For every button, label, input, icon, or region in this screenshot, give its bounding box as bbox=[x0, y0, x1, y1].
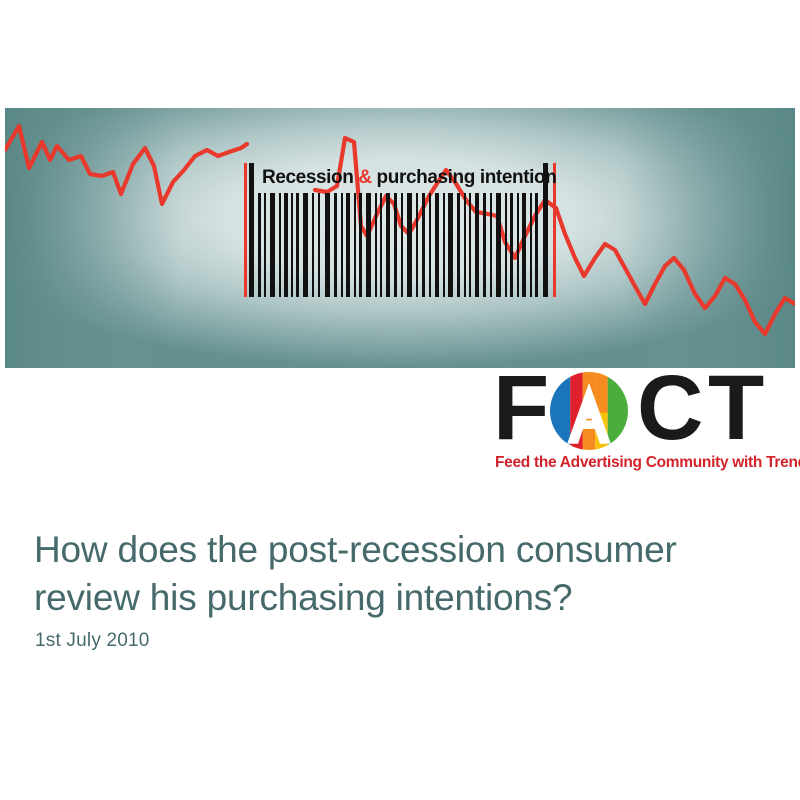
barcode-bar bbox=[457, 193, 460, 297]
barcode-bar bbox=[517, 193, 519, 297]
barcode-bar bbox=[270, 193, 275, 297]
barcode-bar bbox=[284, 193, 288, 297]
barcode-bar bbox=[375, 193, 377, 297]
barcode-bar bbox=[366, 193, 371, 297]
barcode-bar bbox=[505, 193, 507, 297]
barcode-bar bbox=[312, 193, 314, 297]
barcode-bar bbox=[354, 193, 356, 297]
logo-color-wheel-a-icon bbox=[550, 372, 628, 450]
barcode-bar bbox=[448, 193, 453, 297]
barcode-bar bbox=[303, 193, 308, 297]
barcode-bar bbox=[416, 193, 418, 297]
barcode-bar bbox=[435, 193, 439, 297]
barcode-rail-left bbox=[244, 163, 247, 297]
barcode-bar bbox=[325, 193, 330, 297]
fact-wordmark: F C T bbox=[493, 370, 795, 454]
barcode-bar bbox=[258, 193, 261, 297]
barcode-bar bbox=[429, 193, 431, 297]
barcode-bar bbox=[422, 193, 425, 297]
barcode-bar bbox=[341, 193, 343, 297]
presentation-date: 1st July 2010 bbox=[35, 630, 150, 652]
barcode-bar bbox=[469, 193, 471, 297]
barcode-bar bbox=[291, 193, 293, 297]
barcode-bars bbox=[258, 193, 540, 297]
barcode-bar bbox=[394, 193, 397, 297]
barcode-bar bbox=[359, 193, 362, 297]
barcode-bar bbox=[443, 193, 445, 297]
barcode-title: Recession & purchasing intention bbox=[262, 165, 538, 191]
barcode-bar bbox=[318, 193, 320, 297]
barcode-title-ampersand: & bbox=[358, 167, 371, 188]
page-title: How does the post-recession consumer rev… bbox=[34, 526, 754, 622]
barcode-bar bbox=[475, 193, 479, 297]
barcode-bar bbox=[535, 193, 538, 297]
barcode-title-prefix: Recession bbox=[262, 167, 358, 188]
logo-tagline: Feed the Advertising Community with Tren… bbox=[495, 454, 795, 472]
barcode-bar bbox=[483, 193, 486, 297]
barcode-bar bbox=[496, 193, 501, 297]
barcode-bar bbox=[380, 193, 382, 297]
barcode-guard-left bbox=[249, 163, 254, 297]
barcode-bar bbox=[464, 193, 466, 297]
barcode-bar bbox=[490, 193, 492, 297]
barcode-bar bbox=[530, 193, 532, 297]
barcode-bar bbox=[522, 193, 526, 297]
fact-logo: F C T Feed the Advertising Community wit… bbox=[493, 370, 795, 478]
barcode-bar bbox=[296, 193, 299, 297]
barcode-bar bbox=[386, 193, 390, 297]
barcode-bar bbox=[510, 193, 513, 297]
logo-letter-f: F bbox=[493, 366, 546, 450]
barcode-bar bbox=[279, 193, 281, 297]
logo-letter-c: C bbox=[637, 366, 700, 450]
barcode-bar bbox=[407, 193, 412, 297]
barcode-bar bbox=[264, 193, 266, 297]
barcode-bar bbox=[346, 193, 350, 297]
barcode-bar bbox=[401, 193, 403, 297]
logo-letter-t: T bbox=[708, 366, 761, 450]
barcode-title-suffix: purchasing intention bbox=[372, 167, 557, 188]
barcode-graphic: Recession & purchasing intention bbox=[244, 163, 556, 297]
barcode-bar bbox=[334, 193, 337, 297]
